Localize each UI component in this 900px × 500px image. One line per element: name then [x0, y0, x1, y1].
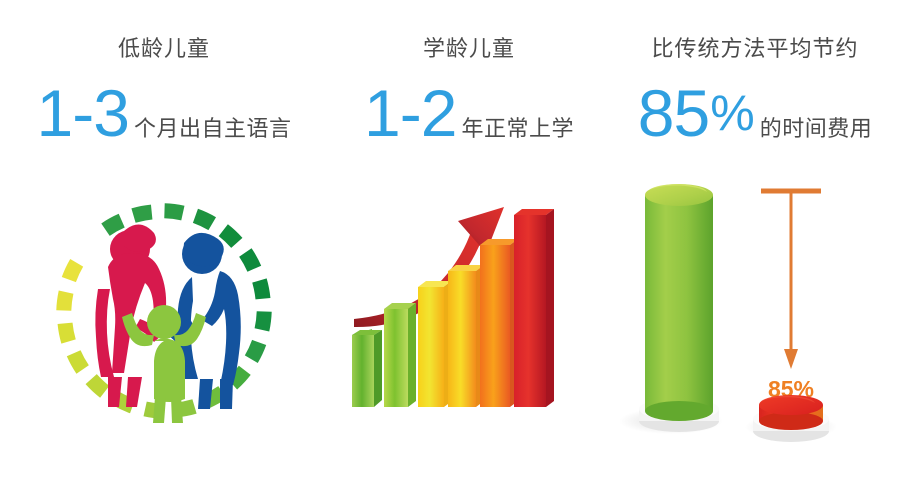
short-red-disc	[753, 395, 829, 442]
stat-row: 1-3 个月出自主语言	[37, 82, 292, 145]
stat-number: 85	[638, 82, 709, 145]
infographic-page: 低龄儿童 1-3 个月出自主语言	[0, 0, 900, 500]
family-circle-icon	[24, 159, 304, 449]
stat-percent-sign: %	[710, 90, 754, 138]
bar-1	[352, 329, 382, 407]
column-title: 学龄儿童	[423, 38, 515, 60]
columns-container: 低龄儿童 1-3 个月出自主语言	[0, 0, 900, 500]
bar-2	[384, 303, 416, 407]
bar-3	[418, 281, 452, 407]
family-circle-illustration	[0, 159, 328, 459]
stat-row: 1-2 年正常上学	[364, 82, 574, 145]
stat-row: 85 % 的时间费用	[638, 82, 872, 145]
growth-chart-illustration	[328, 159, 610, 459]
bar-group	[352, 209, 554, 407]
column-title: 比传统方法平均节约	[651, 38, 858, 60]
column-young-children: 低龄儿童 1-3 个月出自主语言	[0, 0, 328, 500]
measurement-arrow-icon	[761, 191, 821, 369]
column-school-age-children: 学龄儿童 1-2 年正常上学	[328, 0, 610, 500]
column-time-cost-savings: 比传统方法平均节约 85 % 的时间费用	[610, 0, 900, 500]
stat-unit: 的时间费用	[760, 118, 873, 140]
bar-6	[514, 209, 554, 407]
stat-number: 1-3	[37, 82, 129, 145]
stat-number: 1-2	[364, 82, 456, 145]
cylinder-comparison-illustration: 85%	[610, 159, 900, 459]
cylinder-comparison-icon: 85%	[615, 159, 895, 459]
column-title: 低龄儿童	[118, 38, 210, 60]
growth-bar-chart-icon	[334, 159, 604, 449]
bar-5	[480, 239, 518, 407]
stat-unit: 年正常上学	[461, 118, 574, 140]
stat-unit: 个月出自主语言	[134, 118, 292, 140]
tall-green-cylinder	[639, 184, 719, 432]
bar-4	[448, 265, 484, 407]
